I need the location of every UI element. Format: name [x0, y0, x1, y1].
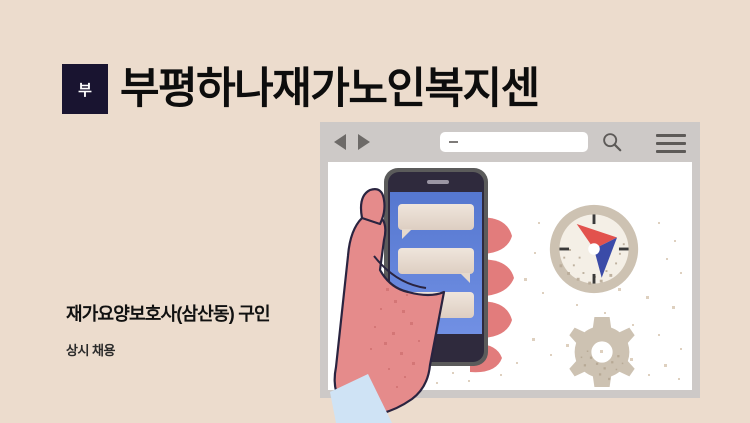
hamburger-line: [656, 142, 686, 145]
brand-logo: 부: [62, 64, 108, 114]
triangle-right-icon[interactable]: [358, 134, 370, 150]
brand-header: 부 부평하나재가노인복지센: [62, 64, 539, 114]
browser-page-canvas: [328, 162, 692, 390]
browser-window-illustration: [320, 122, 700, 398]
brand-logo-char: 부: [78, 79, 92, 100]
page-title: 부평하나재가노인복지센: [120, 68, 539, 111]
job-subtitle: 상시 채용: [66, 340, 270, 359]
hamburger-line: [656, 150, 686, 153]
job-posting-banner: 부 부평하나재가노인복지센: [0, 0, 750, 423]
browser-toolbar: [320, 122, 700, 162]
triangle-left-icon[interactable]: [334, 134, 346, 150]
job-title: 재가요양보호사(삼산동) 구인: [66, 300, 270, 326]
hamburger-line: [656, 134, 686, 137]
job-text-block: 재가요양보호사(삼산동) 구인 상시 채용: [66, 300, 270, 359]
gear-icon: [564, 314, 640, 390]
compass-icon: [546, 201, 642, 297]
magnifier-icon[interactable]: [601, 131, 623, 153]
hamburger-menu-icon[interactable]: [656, 134, 686, 153]
browser-nav-buttons: [334, 134, 370, 150]
search-input[interactable]: [440, 132, 588, 152]
text-caret-icon: [449, 141, 458, 143]
